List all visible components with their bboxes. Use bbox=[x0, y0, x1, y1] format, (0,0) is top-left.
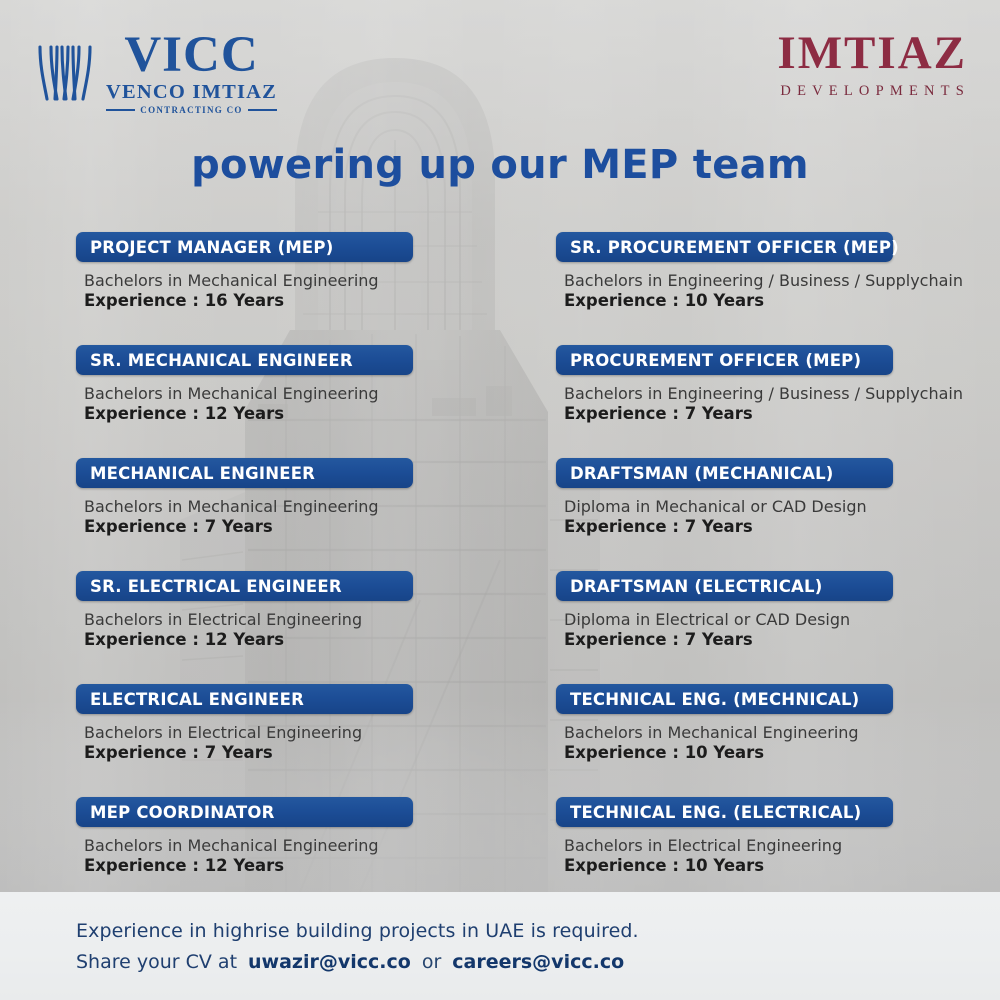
vicc-lattice-icon bbox=[34, 41, 96, 103]
job-entry: DRAFTSMAN (MECHANICAL) Diploma in Mechan… bbox=[556, 458, 996, 571]
footer-cv-line: Share your CV at uwazir@vicc.co or caree… bbox=[76, 951, 1000, 973]
vicc-wordmark: VICC VENCO IMTIAZ CONTRACTING CO bbox=[106, 30, 277, 115]
footer-cv-prefix: Share your CV at bbox=[76, 951, 237, 973]
recruitment-poster: VICC VENCO IMTIAZ CONTRACTING CO IMTIAZ … bbox=[0, 0, 1000, 1000]
job-experience: Experience : 10 Years bbox=[556, 292, 996, 311]
imtiaz-developments-logo: IMTIAZ DEVELOPMENTS bbox=[774, 30, 970, 100]
job-title-badge: PROCUREMENT OFFICER (MEP) bbox=[556, 345, 893, 375]
email-link-secondary[interactable]: careers@vicc.co bbox=[452, 951, 624, 973]
job-qualification: Bachelors in Mechanical Engineering bbox=[76, 385, 556, 403]
job-entry: SR. MECHANICAL ENGINEER Bachelors in Mec… bbox=[76, 345, 556, 458]
job-experience: Experience : 7 Years bbox=[76, 744, 556, 763]
job-experience: Experience : 10 Years bbox=[556, 857, 996, 876]
job-title-badge: PROJECT MANAGER (MEP) bbox=[76, 232, 413, 262]
page-title: powering up our MEP team bbox=[0, 142, 1000, 188]
job-title-badge: SR. MECHANICAL ENGINEER bbox=[76, 345, 413, 375]
tagline-rule-right bbox=[248, 109, 277, 111]
vicc-wordmark-subtitle: VENCO IMTIAZ bbox=[106, 82, 277, 103]
vicc-wordmark-main: VICC bbox=[124, 30, 258, 81]
job-experience: Experience : 7 Years bbox=[556, 518, 996, 537]
vicc-logo: VICC VENCO IMTIAZ CONTRACTING CO bbox=[34, 30, 277, 115]
imtiaz-wordmark: IMTIAZ bbox=[774, 30, 970, 77]
job-experience: Experience : 12 Years bbox=[76, 857, 556, 876]
job-qualification: Bachelors in Electrical Engineering bbox=[556, 837, 996, 855]
footer-conjunction: or bbox=[422, 951, 441, 973]
job-experience: Experience : 10 Years bbox=[556, 744, 996, 763]
vicc-wordmark-tagline: CONTRACTING CO bbox=[106, 106, 277, 115]
job-listing-grid: PROJECT MANAGER (MEP) Bachelors in Mecha… bbox=[0, 232, 1000, 910]
poster-header: VICC VENCO IMTIAZ CONTRACTING CO IMTIAZ … bbox=[0, 0, 1000, 130]
job-experience: Experience : 12 Years bbox=[76, 405, 556, 424]
job-entry: SR. ELECTRICAL ENGINEER Bachelors in Ele… bbox=[76, 571, 556, 684]
job-qualification: Bachelors in Mechanical Engineering bbox=[76, 837, 556, 855]
job-title-badge: MECHANICAL ENGINEER bbox=[76, 458, 413, 488]
job-title-badge: SR. ELECTRICAL ENGINEER bbox=[76, 571, 413, 601]
job-qualification: Bachelors in Engineering / Business / Su… bbox=[556, 272, 996, 290]
job-experience: Experience : 7 Years bbox=[556, 631, 996, 650]
job-title-badge: DRAFTSMAN (ELECTRICAL) bbox=[556, 571, 893, 601]
imtiaz-subtitle: DEVELOPMENTS bbox=[774, 83, 970, 100]
job-qualification: Bachelors in Mechanical Engineering bbox=[556, 724, 996, 742]
job-qualification: Diploma in Mechanical or CAD Design bbox=[556, 498, 996, 516]
job-experience: Experience : 16 Years bbox=[76, 292, 556, 311]
job-entry: ELECTRICAL ENGINEER Bachelors in Electri… bbox=[76, 684, 556, 797]
job-title-badge: TECHNICAL ENG. (MECHNICAL) bbox=[556, 684, 893, 714]
job-qualification: Bachelors in Mechanical Engineering bbox=[76, 272, 556, 290]
job-experience: Experience : 12 Years bbox=[76, 631, 556, 650]
job-qualification: Bachelors in Mechanical Engineering bbox=[76, 498, 556, 516]
job-title-badge: ELECTRICAL ENGINEER bbox=[76, 684, 413, 714]
job-column-right: SR. PROCUREMENT OFFICER (MEP) Bachelors … bbox=[556, 232, 996, 910]
footer-content: Experience in highrise building projects… bbox=[0, 892, 1000, 973]
job-entry: SR. PROCUREMENT OFFICER (MEP) Bachelors … bbox=[556, 232, 996, 345]
email-link-primary[interactable]: uwazir@vicc.co bbox=[248, 951, 411, 973]
vicc-tagline-text: CONTRACTING CO bbox=[140, 106, 242, 115]
job-title-badge: DRAFTSMAN (MECHANICAL) bbox=[556, 458, 893, 488]
job-entry: DRAFTSMAN (ELECTRICAL) Diploma in Electr… bbox=[556, 571, 996, 684]
job-qualification: Bachelors in Electrical Engineering bbox=[76, 724, 556, 742]
job-qualification: Diploma in Electrical or CAD Design bbox=[556, 611, 996, 629]
poster-footer: Experience in highrise building projects… bbox=[0, 892, 1000, 1000]
job-qualification: Bachelors in Electrical Engineering bbox=[76, 611, 556, 629]
job-entry: PROCUREMENT OFFICER (MEP) Bachelors in E… bbox=[556, 345, 996, 458]
job-column-left: PROJECT MANAGER (MEP) Bachelors in Mecha… bbox=[76, 232, 556, 910]
job-entry: PROJECT MANAGER (MEP) Bachelors in Mecha… bbox=[76, 232, 556, 345]
tagline-rule-left bbox=[106, 109, 135, 111]
job-title-badge: SR. PROCUREMENT OFFICER (MEP) bbox=[556, 232, 893, 262]
job-qualification: Bachelors in Engineering / Business / Su… bbox=[556, 385, 996, 403]
job-experience: Experience : 7 Years bbox=[556, 405, 996, 424]
job-title-badge: MEP COORDINATOR bbox=[76, 797, 413, 827]
job-title-badge: TECHNICAL ENG. (ELECTRICAL) bbox=[556, 797, 893, 827]
job-experience: Experience : 7 Years bbox=[76, 518, 556, 537]
job-entry: MECHANICAL ENGINEER Bachelors in Mechani… bbox=[76, 458, 556, 571]
job-entry: TECHNICAL ENG. (MECHNICAL) Bachelors in … bbox=[556, 684, 996, 797]
footer-requirement-text: Experience in highrise building projects… bbox=[76, 920, 1000, 942]
